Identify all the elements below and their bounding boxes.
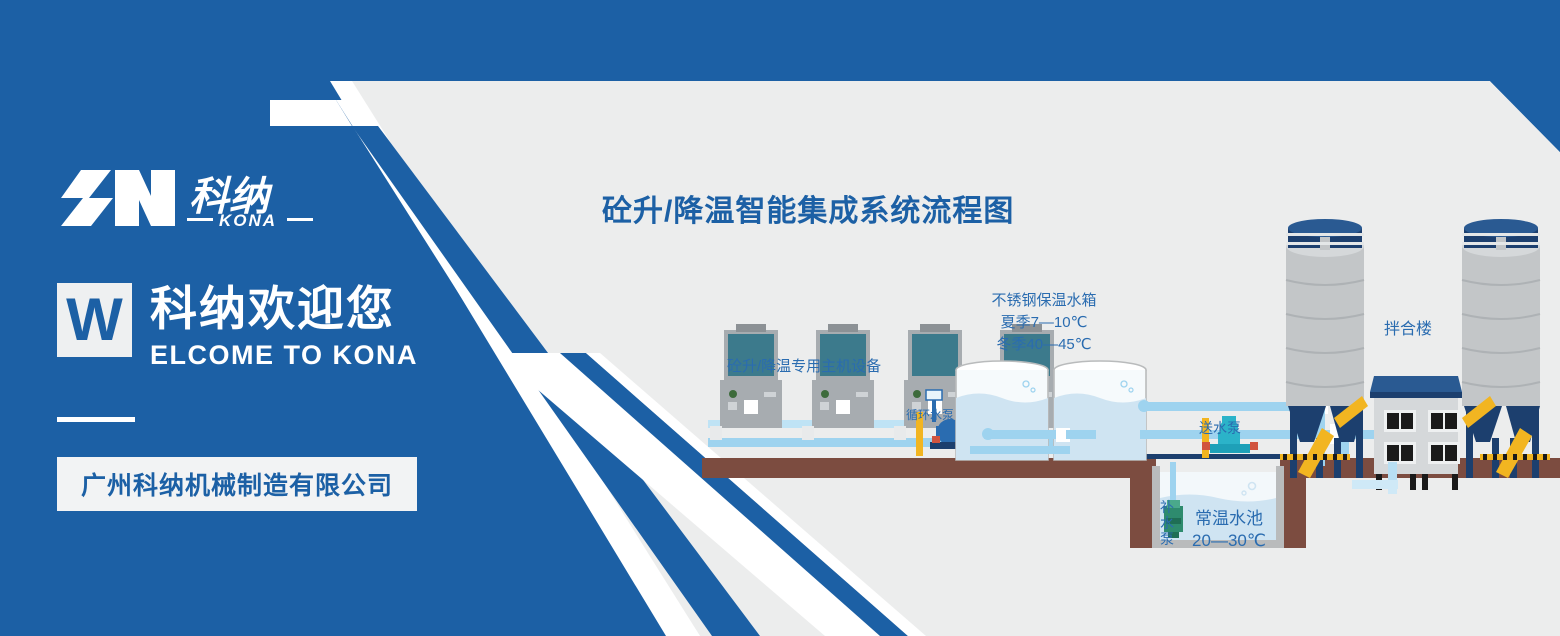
pool-liner-left <box>1152 466 1160 548</box>
kona-logo[interactable]: 科纳 KONA <box>55 168 315 230</box>
label-send-water-pump: 送水泵 <box>1199 418 1241 438</box>
label-chiller-equipment: 砼升/降温专用主机设备 <box>727 355 881 376</box>
promo-banner: 科纳 KONA W 科纳欢迎您 ELCOME TO KONA 广州科纳机械制造有… <box>0 0 1560 636</box>
welcome-text-group: 科纳欢迎您 ELCOME TO KONA <box>150 283 418 371</box>
welcome-chinese: 科纳欢迎您 <box>150 283 418 335</box>
water-tank <box>956 361 1048 460</box>
cement-silo <box>1286 219 1368 478</box>
pool-liner-right <box>1276 466 1284 548</box>
ground-left <box>702 458 1152 478</box>
svg-text:KONA: KONA <box>219 211 277 230</box>
label-makeup-pump: 补水泵 <box>1160 499 1175 547</box>
pool-label-line-2: 20—30℃ <box>1184 530 1274 552</box>
mixing-plant <box>1280 219 1550 494</box>
tank-label-line-2: 夏季7—10℃ <box>964 312 1124 334</box>
process-flow-diagram <box>640 180 1560 600</box>
hero-left-panel: 科纳 KONA W 科纳欢迎您 ELCOME TO KONA 广州科纳机械制造有… <box>0 0 520 636</box>
chiller-unit <box>802 324 874 440</box>
label-circulation-pump: 循环水泵 <box>906 406 954 423</box>
welcome-english: ELCOME TO KONA <box>150 340 418 371</box>
pool-deck-edge <box>1140 454 1298 459</box>
chiller-unit <box>710 324 782 440</box>
label-ambient-pool: 常温水池 20—30℃ <box>1184 508 1274 552</box>
label-insulated-water-tank: 不锈钢保温水箱 夏季7—10℃ 冬季40—45℃ <box>964 290 1124 356</box>
water-tank <box>1054 361 1146 460</box>
cement-silo <box>1462 219 1540 478</box>
label-mixing-tower: 拌合楼 <box>1384 315 1432 339</box>
w-initial-box: W <box>57 283 132 357</box>
welcome-heading: W 科纳欢迎您 ELCOME TO KONA <box>57 283 418 371</box>
tank-label-line-1: 不锈钢保温水箱 <box>964 290 1124 312</box>
hero-divider <box>57 417 135 422</box>
kn-logo-icon: 科纳 KONA <box>55 168 315 230</box>
tank-label-line-3: 冬季40—45℃ <box>964 334 1124 356</box>
pool-label-line-1: 常温水池 <box>1184 508 1274 530</box>
company-name-box: 广州科纳机械制造有限公司 <box>57 457 417 511</box>
company-name: 广州科纳机械制造有限公司 <box>81 466 393 502</box>
